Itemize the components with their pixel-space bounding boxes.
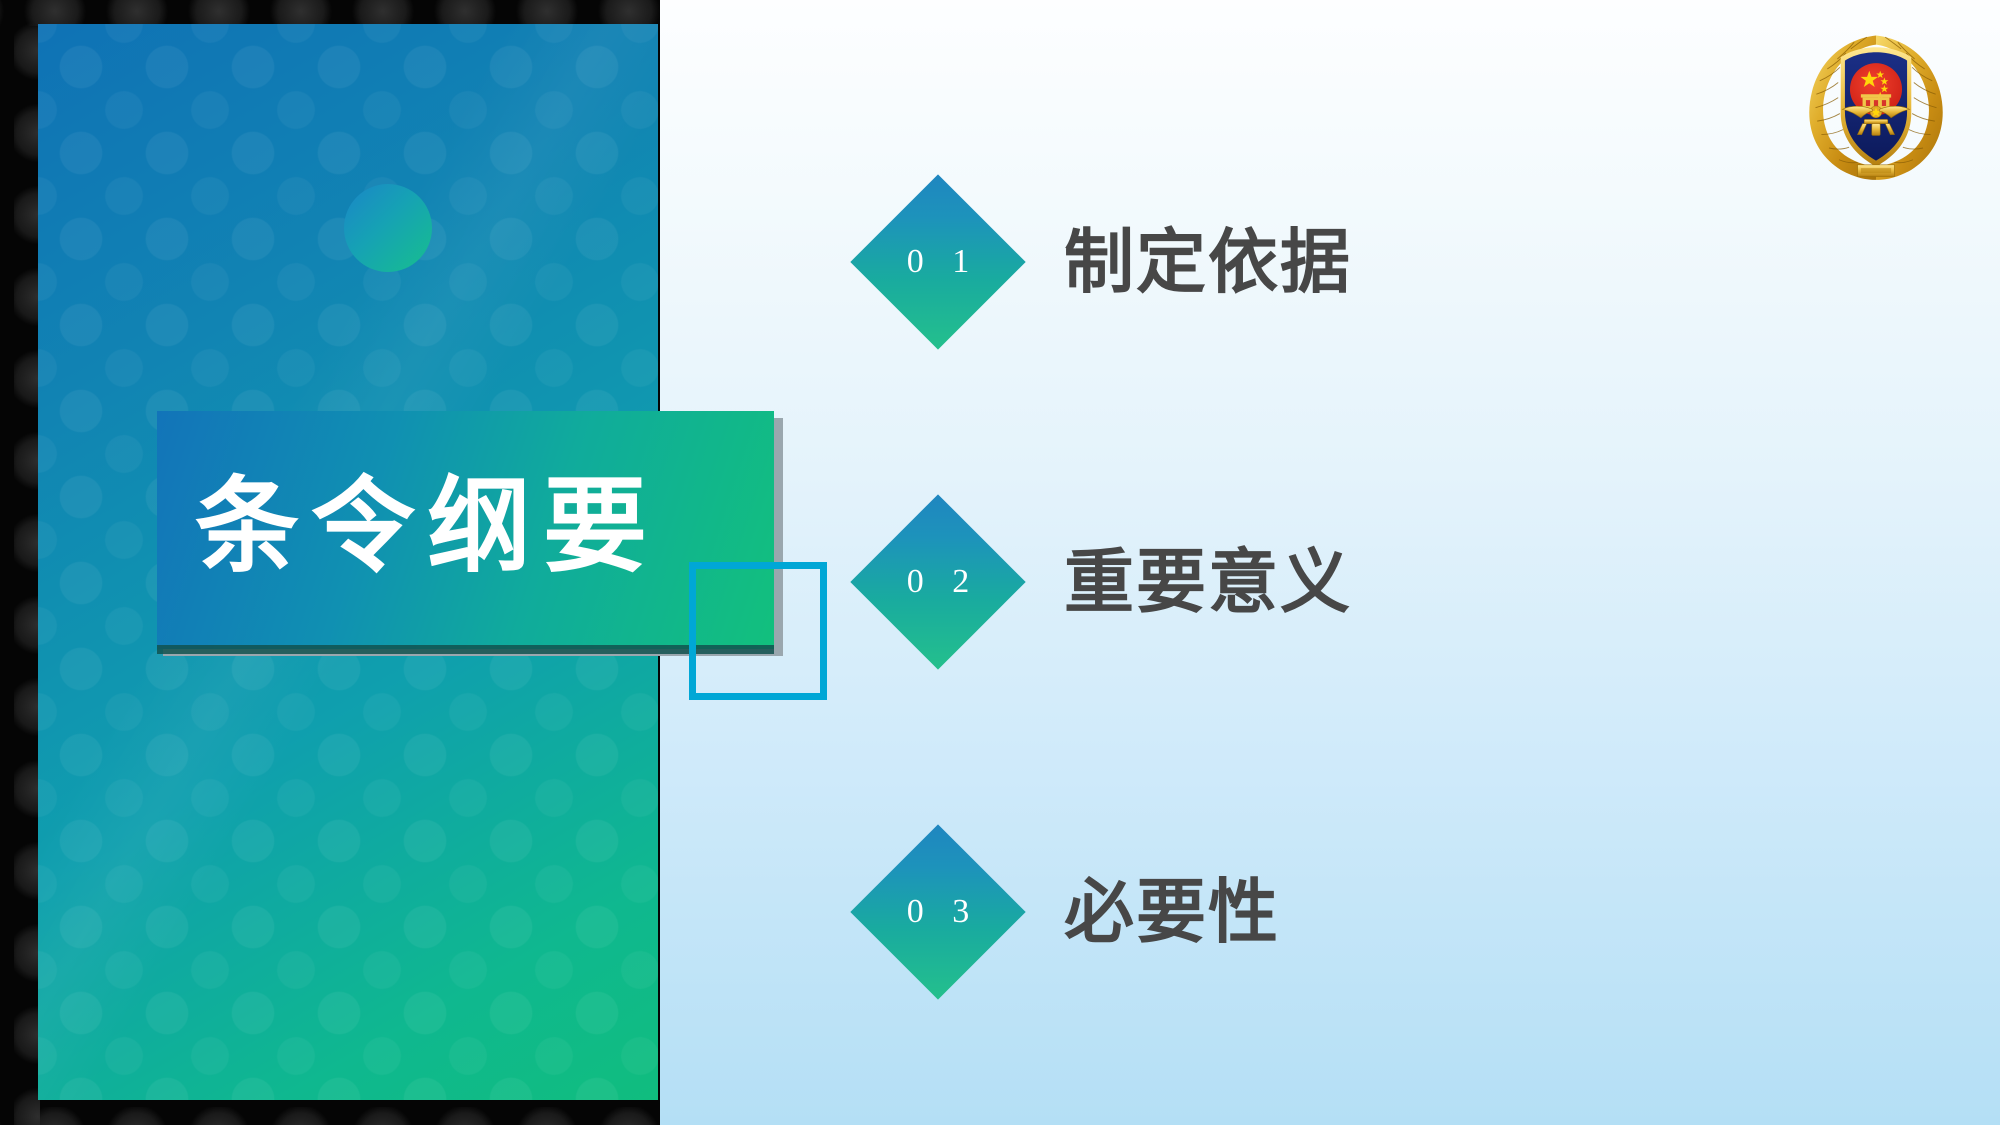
agenda-item-2[interactable]: 0 2 重要意义 (850, 492, 1750, 672)
agenda-number-1: 0 1 (897, 243, 980, 281)
agenda-number-badge-2: 0 2 (850, 494, 1026, 670)
decorative-circle (344, 184, 432, 272)
agenda-label-3: 必要性 (1064, 877, 1280, 947)
agenda-label-2: 重要意义 (1064, 547, 1352, 617)
accent-square-outline (689, 562, 827, 700)
frame-perforations-left (0, 0, 40, 1125)
china-fire-rescue-emblem-icon (1792, 22, 1960, 190)
presentation-slide: 条令纲要 (0, 0, 2000, 1125)
slide-title: 条令纲要 (195, 475, 659, 579)
agenda-label-1: 制定依据 (1064, 227, 1352, 297)
agenda-item-1[interactable]: 0 1 制定依据 (850, 172, 1750, 352)
agenda-number-badge-3: 0 3 (850, 824, 1026, 1000)
agenda-number-2: 0 2 (897, 563, 980, 601)
frame-perforations-top (0, 0, 660, 26)
agenda-number-3: 0 3 (897, 893, 980, 931)
agenda-item-3[interactable]: 0 3 必要性 (850, 822, 1750, 1002)
title-underline (157, 645, 774, 654)
agenda-number-badge-1: 0 1 (850, 174, 1026, 350)
frame-perforations-bottom (0, 1099, 660, 1125)
